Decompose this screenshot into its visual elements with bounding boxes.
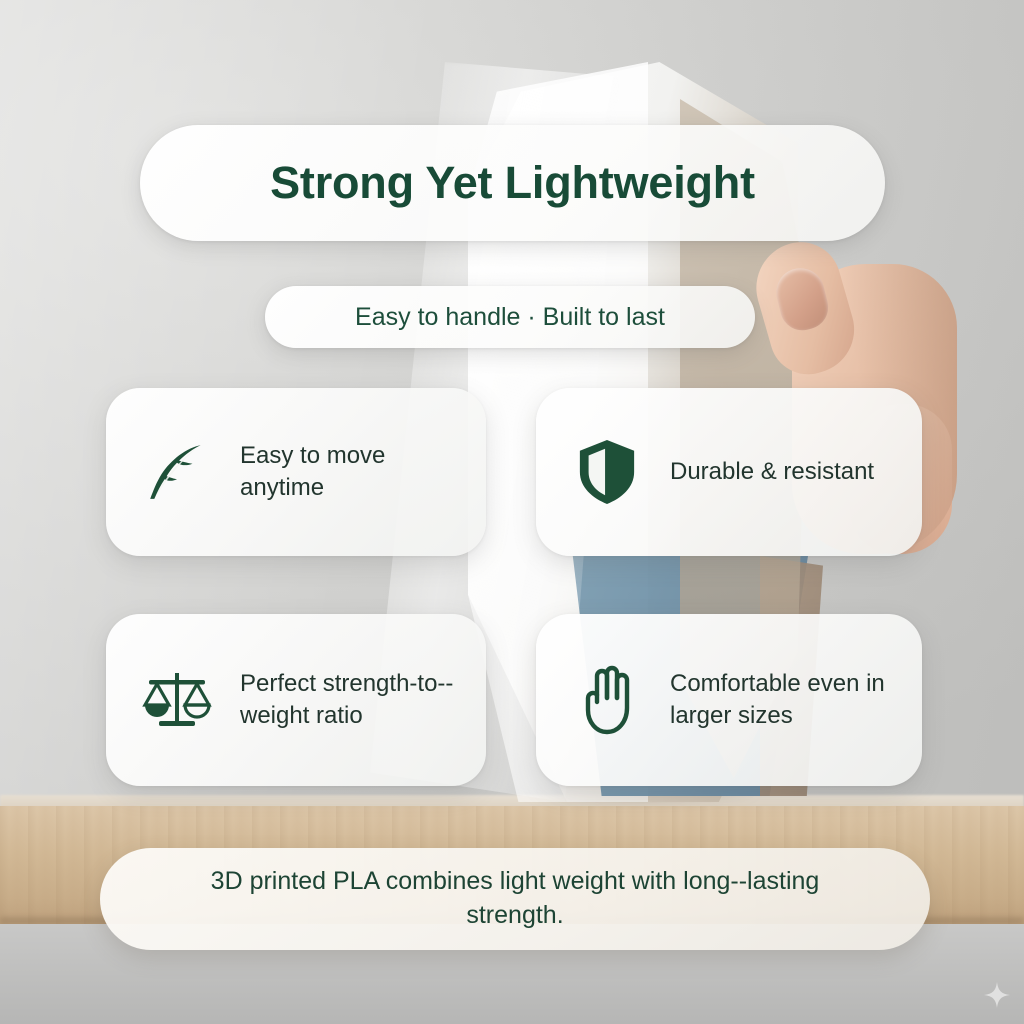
feature-label: Easy to move anytime (240, 440, 458, 504)
info-overlay: Strong Yet Lightweight Easy to handle · … (0, 0, 1024, 1024)
feather-icon (140, 431, 214, 513)
open-hand-icon (570, 659, 644, 741)
footer-pill: 3D printed PLA combines light weight wit… (100, 848, 930, 950)
feature-card-easy-to-move[interactable]: Easy to move anytime (106, 388, 486, 556)
sparkle-icon (984, 982, 1010, 1008)
subtitle-pill: Easy to handle · Built to last (265, 286, 755, 348)
shield-icon (570, 431, 644, 513)
feature-card-durable[interactable]: Durable & resistant (536, 388, 922, 556)
page-subtitle: Easy to handle · Built to last (355, 303, 665, 332)
feature-label: Comfortable even in larger sizes (670, 668, 894, 732)
feature-label: Durable & resistant (670, 456, 874, 488)
feature-card-strength-to-weight[interactable]: Perfect strength-to--weight ratio (106, 614, 486, 786)
footer-description: 3D printed PLA combines light weight wit… (160, 865, 870, 933)
feature-label: Perfect strength-to--weight ratio (240, 668, 458, 732)
balance-scale-icon (140, 659, 214, 741)
title-pill: Strong Yet Lightweight (140, 125, 885, 241)
page-title: Strong Yet Lightweight (270, 157, 755, 209)
feature-card-comfortable[interactable]: Comfortable even in larger sizes (536, 614, 922, 786)
